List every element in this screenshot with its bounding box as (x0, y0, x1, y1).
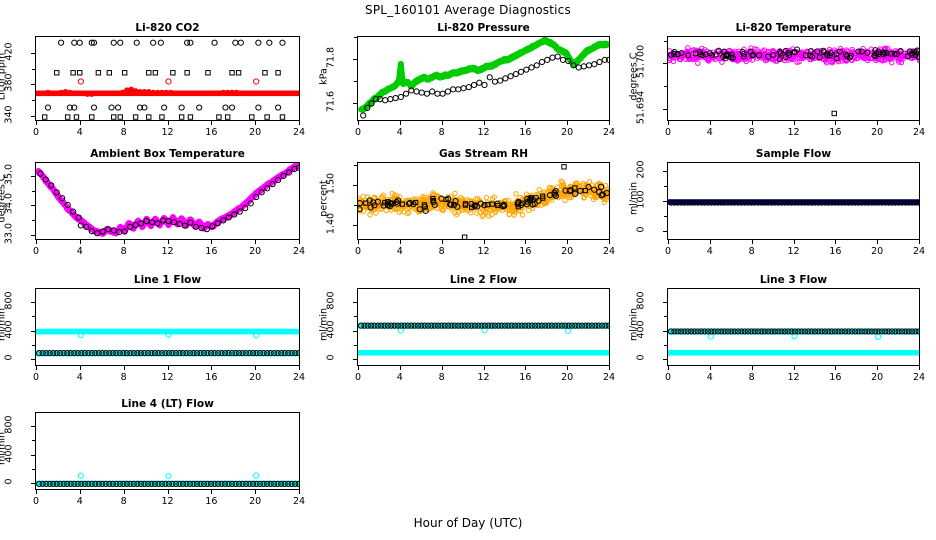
panel-sample-flow: Sample Flow048121620240100200ml/min (667, 162, 920, 240)
panel-line-4-lt-flow: Line 4 (LT) Flow048121620240400800ml/min (35, 412, 300, 490)
y-minor-tick (32, 302, 35, 303)
x-tick (668, 121, 669, 125)
plot-area-ambient-box-temperature (35, 162, 300, 240)
x-tick-label: 24 (287, 372, 311, 383)
x-tick-label: 16 (823, 127, 847, 138)
y-minor-tick (354, 359, 357, 360)
y-axis-label-line-2-flow: ml/min (319, 292, 330, 358)
x-tick (668, 240, 669, 244)
y-minor-tick (32, 205, 35, 206)
x-tick (358, 366, 359, 370)
x-tick (358, 121, 359, 125)
plot-area-li820-temperature (667, 36, 920, 121)
x-tick (299, 121, 300, 125)
x-tick (710, 121, 711, 125)
x-tick-label: 16 (199, 372, 223, 383)
y-minor-tick (354, 185, 357, 186)
x-tick (168, 121, 169, 125)
x-tick (80, 366, 81, 370)
x-tick (752, 121, 753, 125)
panel-line-2-flow: Line 2 Flow048121620240400800ml/min (357, 288, 610, 366)
x-tick (567, 240, 568, 244)
y-minor-tick (664, 86, 667, 87)
x-tick-label: 0 (346, 246, 370, 257)
y-minor-tick (32, 469, 35, 470)
x-tick (794, 121, 795, 125)
y-minor-tick (32, 359, 35, 360)
y-minor-tick (354, 37, 357, 38)
y-minor-tick (32, 84, 35, 85)
x-tick-label: 20 (243, 372, 267, 383)
y-minor-tick (32, 455, 35, 456)
panel-title-li820-pressure: Li-820 Pressure (357, 22, 610, 34)
x-tick-label: 24 (287, 127, 311, 138)
x-tick (442, 366, 443, 370)
x-tick-label: 4 (698, 246, 722, 257)
x-tick-label: 4 (388, 372, 412, 383)
x-tick (255, 490, 256, 494)
x-tick-label: 8 (430, 246, 454, 257)
panel-title-line-4-lt-flow: Line 4 (LT) Flow (35, 398, 300, 410)
x-tick (567, 366, 568, 370)
x-tick (211, 240, 212, 244)
panel-li820-co2: Li-820 CO204812162024340380420Licor ppm (35, 36, 300, 121)
y-minor-tick (664, 331, 667, 332)
x-tick-label: 24 (597, 372, 621, 383)
x-tick-label: 24 (907, 372, 931, 383)
y-minor-tick (32, 220, 35, 221)
x-tick (168, 490, 169, 494)
x-tick (877, 366, 878, 370)
y-minor-tick (354, 302, 357, 303)
x-tick (299, 490, 300, 494)
x-tick-label: 8 (112, 246, 136, 257)
y-minor-tick (32, 191, 35, 192)
x-tick (919, 366, 920, 370)
y-minor-tick (354, 345, 357, 346)
x-tick (299, 240, 300, 244)
x-tick (400, 366, 401, 370)
x-tick-label: 12 (156, 372, 180, 383)
x-tick (255, 121, 256, 125)
panel-title-gas-stream-rh: Gas Stream RH (357, 148, 610, 160)
x-tick-label: 20 (243, 127, 267, 138)
x-tick-label: 16 (513, 246, 537, 257)
x-tick-label: 12 (472, 372, 496, 383)
x-tick (211, 490, 212, 494)
x-tick (36, 366, 37, 370)
x-tick (525, 240, 526, 244)
panel-line-1-flow: Line 1 Flow048121620240400800ml/min (35, 288, 300, 366)
panel-title-li820-temperature: Li-820 Temperature (667, 22, 920, 34)
x-tick-label: 0 (24, 246, 48, 257)
y-minor-tick (32, 440, 35, 441)
x-tick (442, 121, 443, 125)
y-axis-label-li820-co2: Licor ppm (0, 43, 8, 109)
y-minor-tick (664, 216, 667, 217)
y-minor-tick (354, 331, 357, 332)
x-tick (525, 121, 526, 125)
x-tick-label: 0 (24, 496, 48, 507)
x-tick-label: 8 (430, 127, 454, 138)
x-tick (80, 121, 81, 125)
y-minor-tick (32, 235, 35, 236)
x-tick-label: 20 (555, 246, 579, 257)
y-minor-tick (354, 225, 357, 226)
x-tick (124, 366, 125, 370)
x-tick-label: 4 (68, 496, 92, 507)
x-tick-label: 16 (823, 372, 847, 383)
x-tick (36, 490, 37, 494)
x-tick-label: 24 (597, 246, 621, 257)
figure-title: SPL_160101 Average Diagnostics (0, 3, 936, 17)
x-tick-label: 4 (388, 127, 412, 138)
y-axis-label-sample-flow: ml/min (629, 166, 640, 232)
x-tick (80, 240, 81, 244)
x-tick (36, 240, 37, 244)
y-minor-tick (32, 331, 35, 332)
y-axis-label-li820-pressure: kPa (319, 43, 330, 109)
x-tick-label: 12 (782, 372, 806, 383)
x-tick-label: 12 (156, 246, 180, 257)
x-tick (794, 366, 795, 370)
x-tick-label: 4 (68, 246, 92, 257)
y-axis-label-line-3-flow: ml/min (629, 292, 640, 358)
x-tick-label: 20 (555, 372, 579, 383)
x-tick (877, 240, 878, 244)
panel-title-li820-co2: Li-820 CO2 (35, 22, 300, 34)
y-minor-tick (664, 41, 667, 42)
x-tick-label: 16 (513, 372, 537, 383)
x-tick (919, 240, 920, 244)
y-minor-tick (664, 63, 667, 64)
panel-title-line-3-flow: Line 3 Flow (667, 274, 920, 286)
x-tick (36, 121, 37, 125)
x-tick-label: 16 (199, 496, 223, 507)
x-tick (484, 240, 485, 244)
x-tick-label: 4 (698, 127, 722, 138)
x-tick (299, 366, 300, 370)
x-tick (567, 121, 568, 125)
x-tick-label: 8 (740, 127, 764, 138)
x-tick-label: 8 (740, 372, 764, 383)
y-minor-tick (664, 201, 667, 202)
y-minor-tick (354, 103, 357, 104)
x-tick (794, 240, 795, 244)
y-minor-tick (664, 345, 667, 346)
x-tick-label: 24 (907, 246, 931, 257)
y-minor-tick (664, 302, 667, 303)
x-tick-label: 4 (698, 372, 722, 383)
x-tick-label: 0 (656, 372, 680, 383)
x-tick (400, 240, 401, 244)
x-tick-label: 8 (430, 372, 454, 383)
x-tick-label: 20 (243, 496, 267, 507)
x-tick (484, 121, 485, 125)
x-tick-label: 16 (199, 246, 223, 257)
panel-line-3-flow: Line 3 Flow048121620240400800ml/min (667, 288, 920, 366)
y-minor-tick (664, 186, 667, 187)
panel-gas-stream-rh: Gas Stream RH048121620241.401.50percent (357, 162, 610, 240)
x-tick-label: 20 (865, 127, 889, 138)
plot-area-line-3-flow (667, 288, 920, 366)
x-tick (211, 121, 212, 125)
y-minor-tick (664, 231, 667, 232)
x-tick (710, 240, 711, 244)
y-minor-tick (664, 171, 667, 172)
x-tick-label: 12 (782, 246, 806, 257)
x-tick-label: 16 (513, 127, 537, 138)
x-tick-label: 0 (24, 372, 48, 383)
x-tick (168, 366, 169, 370)
y-minor-tick (32, 53, 35, 54)
x-tick-label: 4 (68, 372, 92, 383)
x-tick-label: 8 (740, 246, 764, 257)
x-tick (609, 240, 610, 244)
y-minor-tick (32, 100, 35, 101)
y-axis-label-gas-stream-rh: percent (319, 166, 330, 232)
y-minor-tick (354, 165, 357, 166)
x-tick (609, 121, 610, 125)
plot-area-gas-stream-rh (357, 162, 610, 240)
diagnostics-figure: SPL_160101 Average Diagnostics Hour of D… (0, 0, 936, 540)
x-tick (168, 240, 169, 244)
y-minor-tick (354, 81, 357, 82)
y-axis-label-ambient-box-temperature: degrees C (0, 166, 8, 232)
x-tick-label: 12 (156, 496, 180, 507)
x-tick-label: 12 (782, 127, 806, 138)
x-tick (124, 121, 125, 125)
x-tick-label: 24 (287, 246, 311, 257)
panel-ambient-box-temperature: Ambient Box Temperature0481216202433.034… (35, 162, 300, 240)
x-tick-label: 0 (346, 372, 370, 383)
y-minor-tick (664, 359, 667, 360)
x-tick-label: 12 (472, 246, 496, 257)
x-tick (211, 366, 212, 370)
x-tick-label: 0 (346, 127, 370, 138)
plot-area-line-1-flow (35, 288, 300, 366)
x-tick-label: 24 (907, 127, 931, 138)
panel-li820-pressure: Li-820 Pressure0481216202471.671.8kPa (357, 36, 610, 121)
x-tick (358, 240, 359, 244)
panel-title-line-1-flow: Line 1 Flow (35, 274, 300, 286)
x-tick-label: 0 (656, 246, 680, 257)
y-axis-label-li820-temperature: degrees C (629, 43, 640, 109)
y-minor-tick (354, 316, 357, 317)
y-minor-tick (32, 483, 35, 484)
x-tick-label: 8 (112, 496, 136, 507)
x-tick-label: 4 (388, 246, 412, 257)
y-minor-tick (32, 69, 35, 70)
x-tick-label: 20 (865, 246, 889, 257)
x-tick (752, 366, 753, 370)
x-tick-label: 0 (656, 127, 680, 138)
x-tick-label: 12 (472, 127, 496, 138)
plot-area-line-4-lt-flow (35, 412, 300, 490)
x-tick (400, 121, 401, 125)
y-minor-tick (32, 116, 35, 117)
x-tick (835, 240, 836, 244)
x-tick-label: 16 (823, 246, 847, 257)
x-tick (255, 366, 256, 370)
x-tick-label: 8 (112, 372, 136, 383)
x-tick (124, 490, 125, 494)
figure-xlabel: Hour of Day (UTC) (0, 516, 936, 530)
plot-area-line-2-flow (357, 288, 610, 366)
x-tick-label: 24 (597, 127, 621, 138)
x-tick (124, 240, 125, 244)
y-axis-label-line-4-lt-flow: ml/min (0, 416, 8, 482)
x-tick (525, 366, 526, 370)
plot-area-li820-co2 (35, 36, 300, 121)
x-tick (442, 240, 443, 244)
x-tick (668, 366, 669, 370)
x-tick (835, 121, 836, 125)
y-minor-tick (354, 205, 357, 206)
x-tick (255, 240, 256, 244)
y-minor-tick (664, 109, 667, 110)
y-minor-tick (32, 426, 35, 427)
x-tick-label: 20 (243, 246, 267, 257)
x-tick-label: 8 (112, 127, 136, 138)
y-minor-tick (32, 316, 35, 317)
panel-title-line-2-flow: Line 2 Flow (357, 274, 610, 286)
y-minor-tick (32, 176, 35, 177)
x-tick-label: 20 (555, 127, 579, 138)
plot-area-li820-pressure (357, 36, 610, 121)
x-tick-label: 12 (156, 127, 180, 138)
y-minor-tick (354, 59, 357, 60)
y-minor-tick (32, 345, 35, 346)
panel-title-sample-flow: Sample Flow (667, 148, 920, 160)
x-tick (877, 121, 878, 125)
panel-title-ambient-box-temperature: Ambient Box Temperature (35, 148, 300, 160)
plot-area-sample-flow (667, 162, 920, 240)
x-tick-label: 0 (24, 127, 48, 138)
panel-li820-temperature: Li-820 Temperature0481216202451.69451.70… (667, 36, 920, 121)
x-tick (919, 121, 920, 125)
x-tick-label: 16 (199, 127, 223, 138)
x-tick-label: 24 (287, 496, 311, 507)
x-tick (80, 490, 81, 494)
x-tick (710, 366, 711, 370)
x-tick (609, 366, 610, 370)
x-tick-label: 4 (68, 127, 92, 138)
x-tick (752, 240, 753, 244)
y-axis-label-line-1-flow: ml/min (0, 292, 8, 358)
x-tick (835, 366, 836, 370)
y-minor-tick (664, 316, 667, 317)
x-tick-label: 20 (865, 372, 889, 383)
x-tick (484, 366, 485, 370)
